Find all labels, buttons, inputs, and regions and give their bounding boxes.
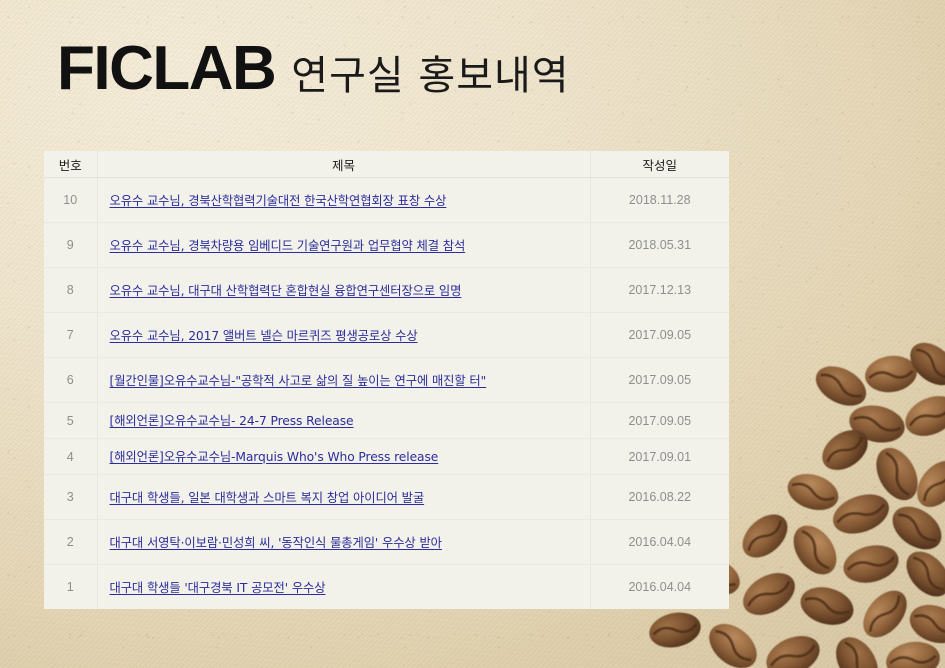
cell-post-number: 7	[44, 313, 97, 358]
post-title-link[interactable]: 오유수 교수님, 2017 앨버트 넬슨 마르퀴즈 평생공로상 수상	[110, 329, 418, 343]
cell-post-number: 9	[44, 223, 97, 268]
cell-post-number: 5	[44, 403, 97, 439]
table-row: 2대구대 서영탁·이보람·민성희 씨, '동작인식 물총게임' 우수상 받아20…	[44, 520, 729, 565]
cell-post-number: 4	[44, 439, 97, 475]
table-row: 9오유수 교수님, 경북차량용 임베디드 기술연구원과 업무협약 체결 참석20…	[44, 223, 729, 268]
table-row: 1대구대 학생들 '대구경북 IT 공모전' 우수상2016.04.04	[44, 565, 729, 610]
cell-post-number: 8	[44, 268, 97, 313]
column-header-title: 제목	[97, 151, 590, 178]
cell-post-title: 오유수 교수님, 경북산학협력기술대전 한국산학연협회장 표창 수상	[97, 178, 590, 223]
post-title-link[interactable]: [해외언론]오유수교수님-Marquis Who's Who Press rel…	[110, 450, 439, 464]
table-row: 8오유수 교수님, 대구대 산학협력단 혼합현실 융합연구센터장으로 임명201…	[44, 268, 729, 313]
cell-post-date: 2017.09.01	[590, 439, 729, 475]
table-row: 3대구대 학생들, 일본 대학생과 스마트 복지 창업 아이디어 발굴2016.…	[44, 475, 729, 520]
post-title-link[interactable]: [해외언론]오유수교수님- 24-7 Press Release	[110, 414, 354, 428]
post-title-link[interactable]: 오유수 교수님, 경북산학협력기술대전 한국산학연협회장 표창 수상	[110, 194, 447, 208]
table-row: 4[해외언론]오유수교수님-Marquis Who's Who Press re…	[44, 439, 729, 475]
cell-post-title: [해외언론]오유수교수님- 24-7 Press Release	[97, 403, 590, 439]
cell-post-number: 3	[44, 475, 97, 520]
cell-post-title: 대구대 서영탁·이보람·민성희 씨, '동작인식 물총게임' 우수상 받아	[97, 520, 590, 565]
table-row: 6[월간인물]오유수교수님-"공학적 사고로 삶의 질 높이는 연구에 매진할 …	[44, 358, 729, 403]
table-row: 10오유수 교수님, 경북산학협력기술대전 한국산학연협회장 표창 수상2018…	[44, 178, 729, 223]
cell-post-date: 2017.09.05	[590, 358, 729, 403]
notice-table-header: 번호 제목 작성일	[44, 151, 729, 178]
post-title-link[interactable]: 대구대 학생들, 일본 대학생과 스마트 복지 창업 아이디어 발굴	[110, 491, 425, 505]
cell-post-title: 오유수 교수님, 경북차량용 임베디드 기술연구원과 업무협약 체결 참석	[97, 223, 590, 268]
table-header-row: 번호 제목 작성일	[44, 151, 729, 178]
page-title-subtitle: 연구실 홍보내역	[291, 56, 569, 96]
post-title-link[interactable]: 대구대 서영탁·이보람·민성희 씨, '동작인식 물총게임' 우수상 받아	[110, 536, 442, 550]
cell-post-number: 1	[44, 565, 97, 610]
cell-post-date: 2018.11.28	[590, 178, 729, 223]
notice-table: 번호 제목 작성일 10오유수 교수님, 경북산학협력기술대전 한국산학연협회장…	[44, 151, 729, 609]
cell-post-title: [해외언론]오유수교수님-Marquis Who's Who Press rel…	[97, 439, 590, 475]
page-title-main: FICLAB	[57, 38, 275, 100]
cell-post-title: 오유수 교수님, 2017 앨버트 넬슨 마르퀴즈 평생공로상 수상	[97, 313, 590, 358]
slide-canvas: FICLAB 연구실 홍보내역 번호 제목 작성일 10오유수 교수님, 경북산…	[0, 0, 945, 668]
table-row: 7오유수 교수님, 2017 앨버트 넬슨 마르퀴즈 평생공로상 수상2017.…	[44, 313, 729, 358]
notice-board: 번호 제목 작성일 10오유수 교수님, 경북산학협력기술대전 한국산학연협회장…	[44, 151, 729, 609]
table-row: 5[해외언론]오유수교수님- 24-7 Press Release2017.09…	[44, 403, 729, 439]
cell-post-title: [월간인물]오유수교수님-"공학적 사고로 삶의 질 높이는 연구에 매진할 터…	[97, 358, 590, 403]
cell-post-date: 2018.05.31	[590, 223, 729, 268]
post-title-link[interactable]: 오유수 교수님, 대구대 산학협력단 혼합현실 융합연구센터장으로 임명	[110, 284, 462, 298]
cell-post-title: 대구대 학생들, 일본 대학생과 스마트 복지 창업 아이디어 발굴	[97, 475, 590, 520]
cell-post-title: 오유수 교수님, 대구대 산학협력단 혼합현실 융합연구센터장으로 임명	[97, 268, 590, 313]
cell-post-title: 대구대 학생들 '대구경북 IT 공모전' 우수상	[97, 565, 590, 610]
cell-post-date: 2016.04.04	[590, 565, 729, 610]
notice-table-body: 10오유수 교수님, 경북산학협력기술대전 한국산학연협회장 표창 수상2018…	[44, 178, 729, 610]
column-header-date: 작성일	[590, 151, 729, 178]
cell-post-date: 2016.04.04	[590, 520, 729, 565]
column-header-no: 번호	[44, 151, 97, 178]
cell-post-date: 2016.08.22	[590, 475, 729, 520]
cell-post-number: 2	[44, 520, 97, 565]
page-title: FICLAB 연구실 홍보내역	[57, 38, 570, 100]
cell-post-number: 6	[44, 358, 97, 403]
post-title-link[interactable]: 오유수 교수님, 경북차량용 임베디드 기술연구원과 업무협약 체결 참석	[110, 239, 466, 253]
post-title-link[interactable]: [월간인물]오유수교수님-"공학적 사고로 삶의 질 높이는 연구에 매진할 터…	[110, 374, 487, 388]
cell-post-date: 2017.09.05	[590, 403, 729, 439]
cell-post-number: 10	[44, 178, 97, 223]
cell-post-date: 2017.09.05	[590, 313, 729, 358]
cell-post-date: 2017.12.13	[590, 268, 729, 313]
post-title-link[interactable]: 대구대 학생들 '대구경북 IT 공모전' 우수상	[110, 581, 326, 595]
